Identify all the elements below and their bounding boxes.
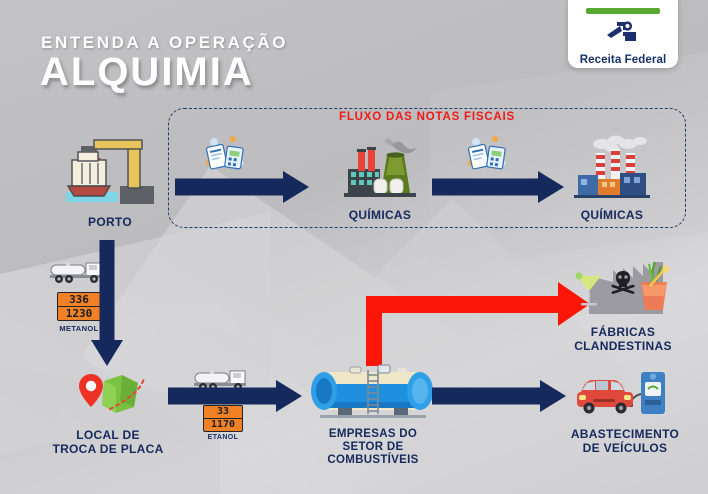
fuel-storage-tank-icon	[300, 362, 446, 425]
page-title: ALQUIMIA	[40, 52, 254, 92]
map-pin-location-icon	[38, 365, 178, 426]
clandestine-factory-icon	[553, 252, 693, 323]
invoice-documents-icon-2	[462, 133, 516, 180]
node-porto-label: PORTO	[50, 216, 170, 230]
infographic-canvas: ENTENDA A OPERAÇÃO ALQUIMIA Receita Fede…	[0, 0, 708, 494]
placard-etanol-group: 33 1170 ETANOL	[196, 405, 250, 441]
node-troca-placa-label-2: TROCA DE PLACA	[38, 443, 178, 457]
car-fuel-pump-icon	[553, 368, 697, 425]
node-combustiveis-label-2: SETOR DE	[300, 441, 446, 454]
placard-metanol-bottom: 1230	[58, 307, 101, 320]
chemical-plant-red-icon	[557, 135, 667, 206]
red-arrow-horizontal-segment	[366, 296, 564, 313]
node-troca-placa: LOCAL DE TROCA DE PLACA	[38, 365, 178, 456]
node-combustiveis-label-1: EMPRESAS DO	[300, 428, 446, 441]
logo-wordmark: Receita Federal	[580, 54, 667, 66]
node-abastecimento-label-2: DE VEÍCULOS	[553, 442, 697, 456]
receita-federal-emblem-icon	[603, 18, 643, 53]
placard-etanol-bottom: 1170	[204, 419, 242, 431]
node-quimicas-1: QUÍMICAS	[325, 135, 435, 223]
node-clandestinas-label-1: FÁBRICAS	[553, 326, 693, 340]
node-abastecimento-label-1: ABASTECIMENTO	[553, 428, 697, 442]
node-combustiveis-label-3: COMBUSTÍVEIS	[300, 454, 446, 467]
node-clandestinas: FÁBRICAS CLANDESTINAS	[553, 252, 693, 353]
node-quimicas-2-label: QUÍMICAS	[557, 209, 667, 223]
node-quimicas-1-label: QUÍMICAS	[325, 209, 435, 223]
node-quimicas-2: QUÍMICAS	[557, 135, 667, 223]
placard-metanol-top: 336	[58, 293, 101, 307]
nota-fiscal-flow-title: FLUXO DAS NOTAS FISCAIS	[168, 111, 686, 123]
placard-etanol-top: 33	[204, 406, 242, 419]
node-troca-placa-label-1: LOCAL DE	[38, 429, 178, 443]
receita-federal-logo: Receita Federal	[568, 0, 678, 68]
node-abastecimento: ABASTECIMENTO DE VEÍCULOS	[553, 368, 697, 455]
node-combustiveis: EMPRESAS DO SETOR DE COMBUSTÍVEIS	[300, 362, 446, 467]
node-clandestinas-label-2: CLANDESTINAS	[553, 340, 693, 354]
chemical-plant-green-icon	[325, 135, 435, 206]
invoice-documents-icon-1	[200, 133, 254, 180]
port-ship-crane-icon	[50, 130, 170, 213]
placard-etanol-name: ETANOL	[196, 434, 250, 441]
logo-green-bar	[586, 8, 660, 14]
node-porto: PORTO	[50, 130, 170, 230]
hazmat-placard-metanol: 336 1230	[57, 292, 102, 321]
hazmat-placard-etanol: 33 1170	[203, 405, 243, 432]
